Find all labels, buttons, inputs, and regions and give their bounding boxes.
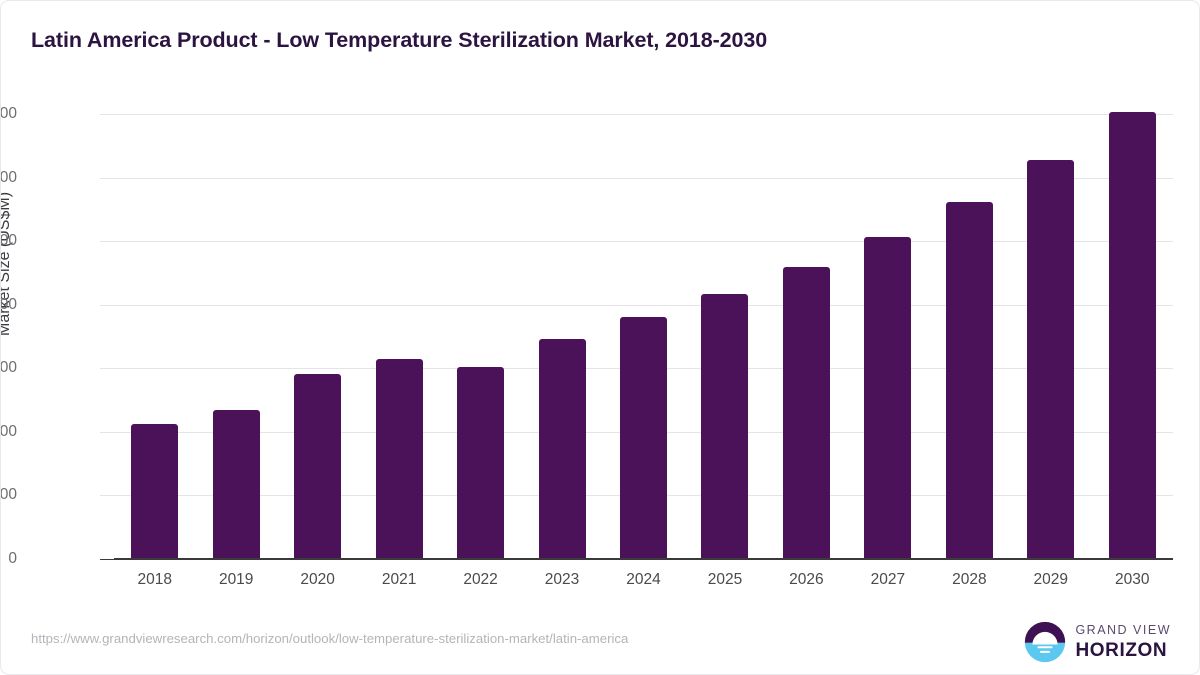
brand-logo[interactable]: GRAND VIEW HORIZON: [1024, 621, 1171, 663]
logo-text: GRAND VIEW HORIZON: [1075, 624, 1171, 660]
gridline: [114, 241, 1173, 242]
logo-line-grand-view: GRAND VIEW: [1075, 624, 1171, 637]
bar[interactable]: [1109, 112, 1156, 559]
y-axis-tick-label: 400: [0, 296, 17, 314]
y-axis-tick-mark: [100, 114, 114, 115]
y-axis-tick-label: 100: [0, 486, 17, 504]
bar[interactable]: [701, 294, 748, 559]
y-axis-tick-mark: [100, 241, 114, 242]
gridline: [114, 178, 1173, 179]
bar[interactable]: [457, 367, 504, 559]
bar[interactable]: [131, 424, 178, 559]
chart-page: Latin America Product - Low Temperature …: [0, 0, 1200, 675]
y-axis-tick-label: 0: [0, 550, 17, 568]
y-axis-title: Market Size (US$M): [0, 192, 14, 336]
x-axis-tick-label: 2019: [219, 571, 253, 589]
bar[interactable]: [864, 237, 911, 559]
y-axis-tick-label: 500: [0, 232, 17, 250]
bar[interactable]: [213, 410, 260, 559]
y-axis-tick-mark: [100, 305, 114, 306]
page-title: Latin America Product - Low Temperature …: [31, 28, 767, 53]
x-axis-tick-label: 2027: [871, 571, 905, 589]
y-axis-tick-mark: [100, 559, 114, 560]
y-axis-tick-label: 700: [0, 105, 17, 123]
bar[interactable]: [1027, 160, 1074, 559]
x-axis-tick-label: 2029: [1034, 571, 1068, 589]
x-axis-tick-label: 2023: [545, 571, 579, 589]
plot-area: [114, 114, 1173, 559]
bar[interactable]: [946, 202, 993, 559]
bar[interactable]: [376, 359, 423, 559]
horizon-sun-icon: [1024, 621, 1066, 663]
x-axis-tick-label: 2026: [789, 571, 823, 589]
y-axis-tick-label: 600: [0, 169, 17, 187]
y-axis-tick-mark: [100, 432, 114, 433]
x-axis-tick-label: 2022: [463, 571, 497, 589]
x-axis-tick-label: 2030: [1115, 571, 1149, 589]
bar[interactable]: [294, 374, 341, 559]
x-axis-tick-label: 2020: [300, 571, 334, 589]
y-axis-tick-label: 200: [0, 423, 17, 441]
bar[interactable]: [783, 267, 830, 559]
x-axis-tick-label: 2028: [952, 571, 986, 589]
gridline: [114, 114, 1173, 115]
x-axis-tick-label: 2024: [626, 571, 660, 589]
bar[interactable]: [620, 317, 667, 559]
x-axis-tick-label: 2025: [708, 571, 742, 589]
y-axis-tick-label: 300: [0, 359, 17, 377]
y-axis-tick-mark: [100, 178, 114, 179]
bar[interactable]: [539, 339, 586, 559]
x-axis-tick-label: 2018: [137, 571, 171, 589]
gridline: [114, 305, 1173, 306]
x-axis-tick-label: 2021: [382, 571, 416, 589]
logo-line-horizon: HORIZON: [1075, 641, 1171, 660]
y-axis-tick-mark: [100, 495, 114, 496]
source-url[interactable]: https://www.grandviewresearch.com/horizo…: [31, 631, 628, 646]
x-axis-line: [114, 558, 1173, 560]
y-axis-tick-mark: [100, 368, 114, 369]
